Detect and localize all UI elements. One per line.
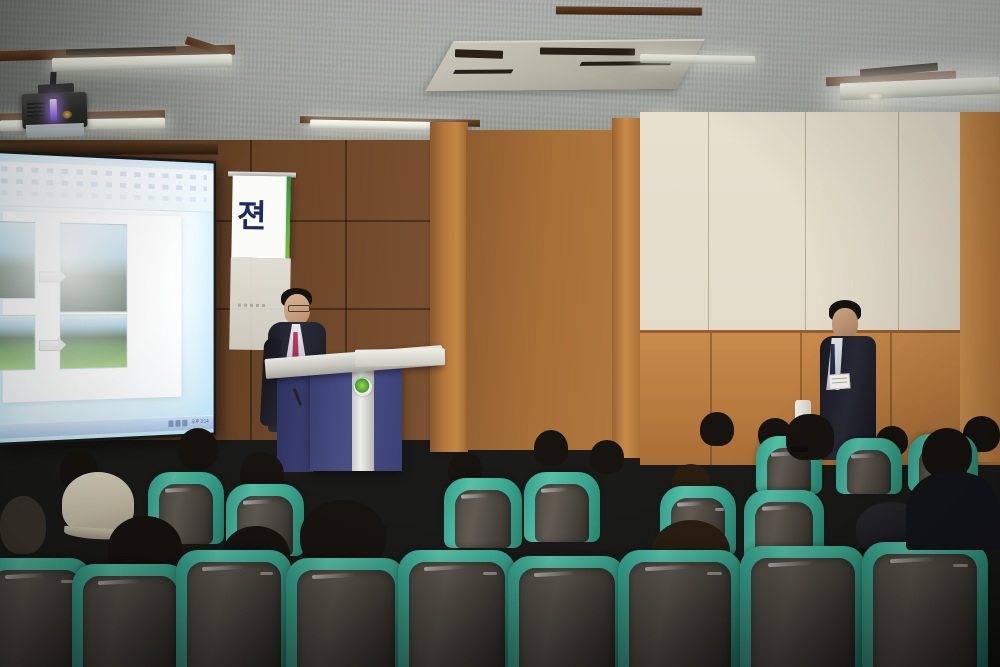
ceiling-beam [556,6,702,15]
seat-highlight [483,572,497,575]
slide-image-after-aerial [60,223,127,313]
name-badge [829,373,851,389]
seat [740,546,866,667]
seat-back [519,568,615,667]
slide-caption-bottom: · · · · · [39,323,52,329]
seat-back [751,558,855,667]
seat-highlight [715,508,724,511]
glasses-icon [288,305,310,312]
audience-area [0,400,1000,667]
seat-back [629,562,731,667]
seat [508,556,626,667]
light-recess-slot [540,48,635,56]
audience-head [590,440,624,474]
podium-lectern-surface-rear [355,348,445,367]
audience-shoulders [906,472,1000,550]
seat-highlight [260,572,274,575]
badge-line [832,381,847,383]
seat-back [873,554,977,667]
podium-emblem-icon [354,378,372,396]
seat-back [535,484,589,542]
auditorium-photo: · · · · · · · · · · 오후 3:14 젼 [0,0,1000,667]
seat [176,550,292,667]
seat-highlight [707,572,722,575]
recessed-downlight-icon [866,92,884,100]
audience-head [178,428,218,470]
audience-head [534,430,568,466]
seat-back [83,576,177,667]
app-toolbar [0,161,214,213]
toolbar-row [1,190,207,202]
seat-back [297,570,395,667]
hvac-vent-slot [453,69,514,74]
hvac-diffuser-icon [425,39,705,91]
audience-head [922,428,972,478]
seat [444,478,522,548]
slide-arrow-icon [39,271,60,282]
slide-image-before-aerial [0,220,35,299]
audience-head [786,414,834,460]
projector-housing-base [26,123,84,138]
acoustic-panel-seam [708,112,709,330]
toolbar-row [1,178,207,191]
banner-text: 젼 [237,200,267,233]
slide-caption-top: · · · · · [39,256,52,262]
event-banner: 젼 [231,176,290,259]
seat [72,564,188,667]
seat [836,438,902,494]
projector-status-led [62,110,72,118]
projector-lens-glow [50,99,58,121]
slide-image-after-landscape [60,314,127,369]
seat [862,542,988,667]
audience-head [0,496,46,554]
seat [524,472,600,542]
light-recess-slot [455,49,503,59]
seat-back [409,562,505,667]
seat-back [0,570,81,667]
seat [398,550,516,667]
seat-back [187,562,281,667]
audience-head [700,412,734,446]
toolbar-row [1,166,207,180]
acoustic-panel-seam [805,112,806,330]
seat-back [455,490,511,548]
slide-image-before-landscape [0,315,35,372]
slide-arrow-icon [39,340,60,351]
glasses-icon [790,446,808,452]
seat [618,550,742,667]
acoustic-panel-seam [898,112,899,330]
projector-vent [27,102,45,117]
seat [286,558,406,667]
badge-line [832,377,847,379]
seat-highlight [953,564,968,567]
slide-canvas: · · · · · · · · · · [3,211,182,402]
